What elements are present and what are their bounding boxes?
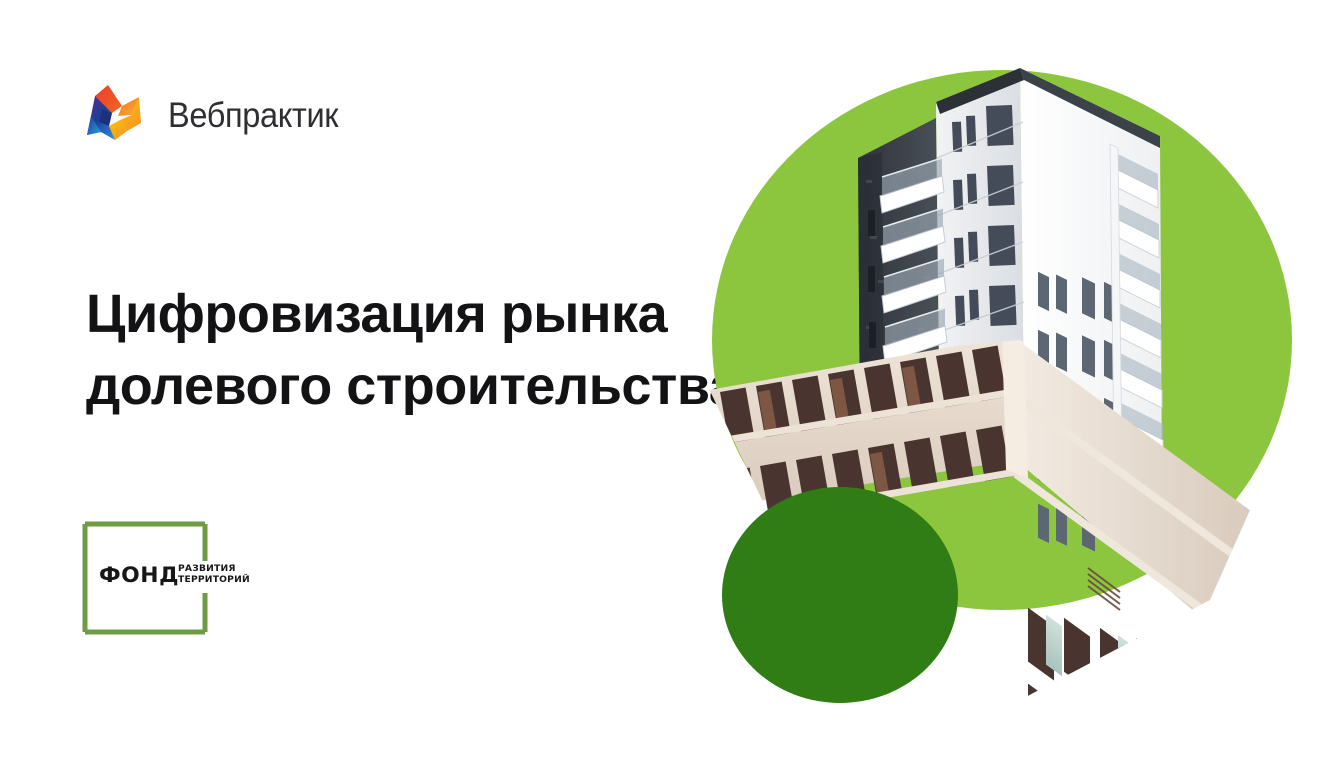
fund-logo: ФОНД РАЗВИТИЯ ТЕРРИТОРИЙ [82, 521, 208, 635]
multicolor-star-icon [82, 82, 154, 148]
title-slide: Вебпрактик Цифровизация рынка долевого с… [0, 0, 1340, 779]
hero-artwork [690, 40, 1330, 740]
fund-subtitle-line-2: ТЕРРИТОРИЙ [178, 576, 250, 585]
fund-subtitle-line-1: РАЗВИТИЯ [178, 565, 250, 574]
dark-green-circle [722, 487, 958, 703]
building-photo-composition [690, 40, 1330, 740]
brand-logo: Вебпрактик [82, 82, 351, 148]
brand-wordmark: Вебпрактик [168, 98, 338, 133]
page-title: Цифровизация рынка долевого строительств… [86, 279, 786, 423]
fund-lockup: ФОНД РАЗВИТИЯ ТЕРРИТОРИЙ [99, 565, 248, 586]
fund-subtitle: РАЗВИТИЯ ТЕРРИТОРИЙ [178, 565, 248, 586]
fund-word: ФОНД [99, 565, 179, 586]
